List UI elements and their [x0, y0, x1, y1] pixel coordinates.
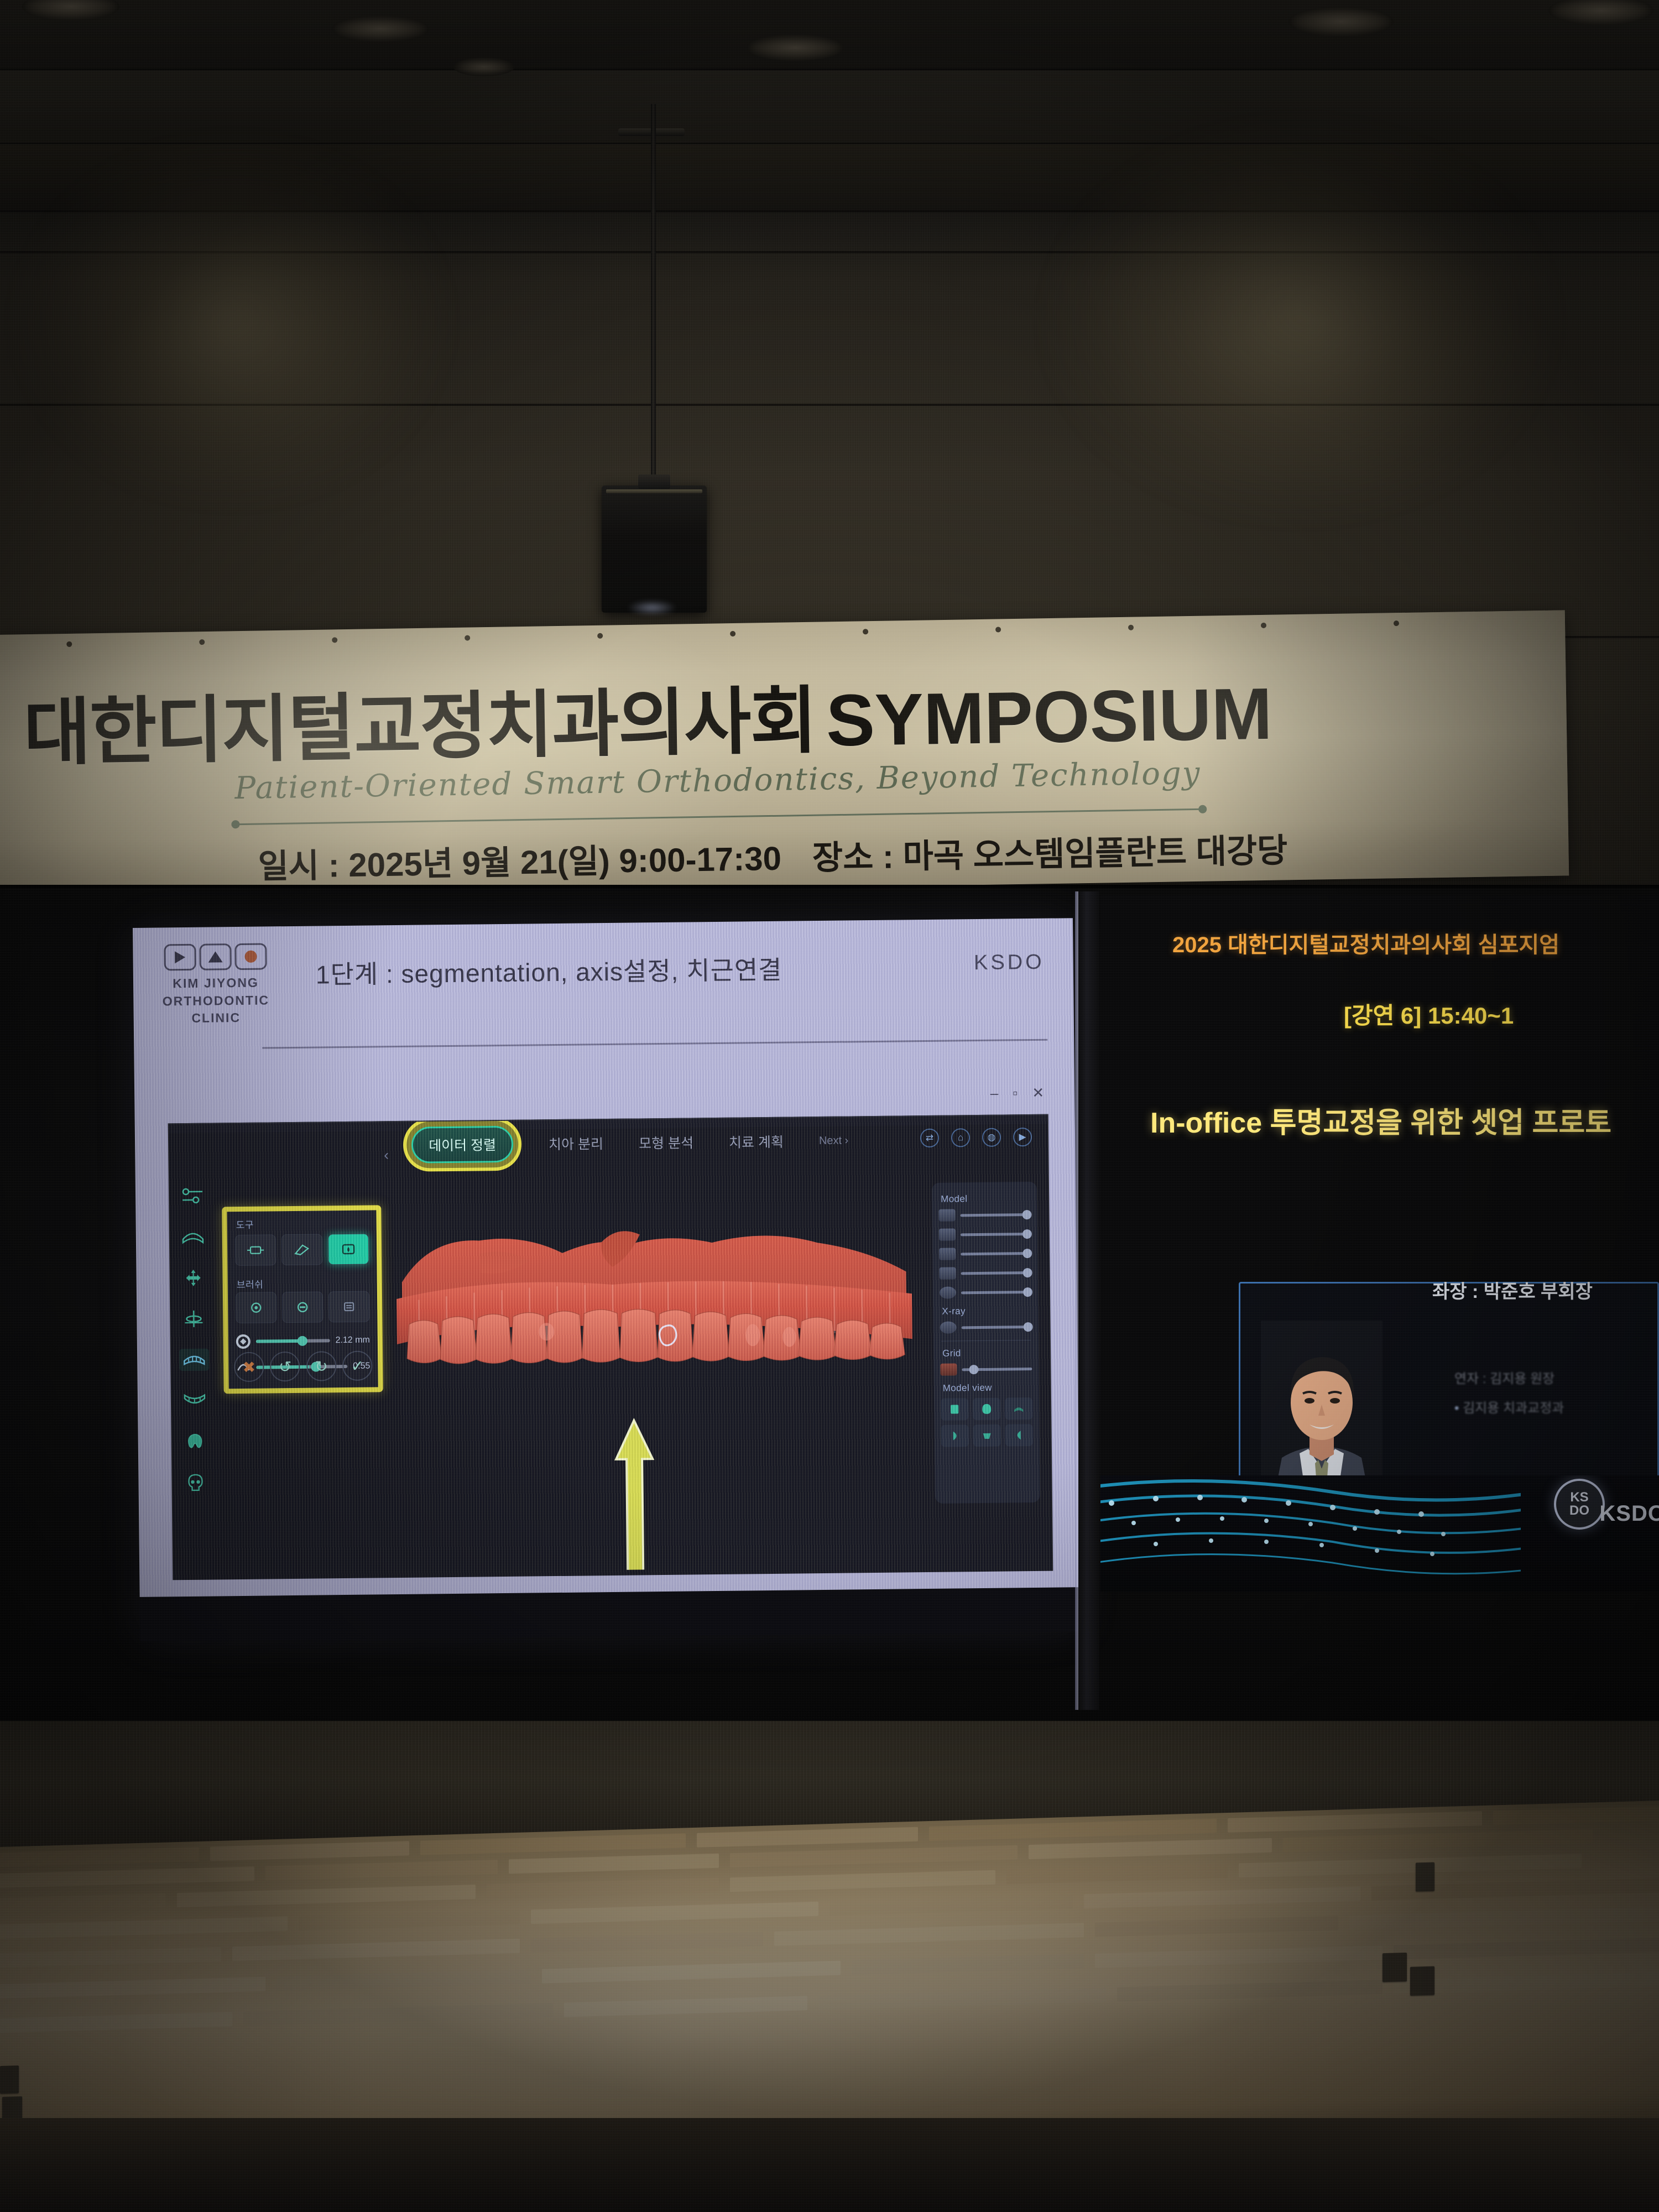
speaker-suspension-rod — [651, 104, 656, 486]
minimize-icon[interactable]: – — [990, 1085, 999, 1102]
model-slider-upper[interactable] — [938, 1208, 1030, 1222]
add-icon[interactable] — [236, 1292, 277, 1323]
view-buttons — [941, 1397, 1033, 1447]
axis-tool-icon[interactable] — [179, 1308, 208, 1331]
model-slider-lower[interactable] — [939, 1228, 1031, 1241]
display-divider — [1078, 891, 1099, 1710]
annotation-arrow-icon — [613, 1418, 656, 1572]
compare-icon[interactable]: ⇄ — [920, 1129, 939, 1147]
ceiling-light — [1288, 7, 1394, 36]
teeth-icon — [940, 1267, 956, 1279]
lower-icon — [939, 1228, 956, 1240]
banner-divider — [235, 808, 1203, 825]
brush-icon[interactable] — [281, 1234, 323, 1265]
brush-size-icon — [236, 1334, 251, 1349]
left-toolbar — [174, 1185, 214, 1494]
brush-size-value: 2.12 mm — [335, 1335, 369, 1346]
close-icon[interactable]: ✕ — [1032, 1084, 1044, 1102]
model-slider-gingiva[interactable] — [939, 1247, 1031, 1260]
dental-software-window: Ortho ‹ 데이터 정렬 치아 분리 모형 분석 치료 계획 Next › … — [168, 1114, 1053, 1580]
align-tool-icon[interactable] — [178, 1185, 207, 1208]
monitor-footer: KS DO KSDO — [1100, 1475, 1659, 1592]
back-view-icon[interactable] — [973, 1398, 1000, 1421]
tooth-shape-icon[interactable] — [180, 1431, 210, 1453]
upper-icon — [938, 1209, 955, 1221]
model-slider-occlusion[interactable] — [940, 1286, 1031, 1299]
home-icon[interactable]: ⌂ — [951, 1128, 970, 1147]
tab-tooth-separation[interactable]: 치아 분리 — [549, 1133, 603, 1154]
panel-section-label: 도구 — [236, 1217, 254, 1231]
upper-track[interactable] — [960, 1213, 1030, 1217]
front-view-icon[interactable] — [941, 1398, 968, 1421]
logo-triangle-up-icon — [199, 943, 231, 971]
clinic-logo: KIM JIYONG ORTHODONTIC CLINIC — [146, 943, 285, 1028]
ksdo-badge-line2: DO — [1569, 1504, 1589, 1517]
ceiling-speaker — [602, 486, 707, 613]
panel-xray-label: X-ray — [942, 1305, 1031, 1317]
app-tabs: 데이터 정렬 치아 분리 모형 분석 치료 계획 Next › — [411, 1120, 849, 1165]
lower-arch-icon[interactable] — [180, 1390, 210, 1412]
model-viewport[interactable] — [379, 1177, 926, 1572]
drop-icon[interactable]: ◍ — [982, 1128, 1001, 1147]
subtract-icon[interactable] — [282, 1291, 324, 1323]
xray-opacity-icon — [940, 1321, 957, 1333]
right-view-icon[interactable] — [1005, 1397, 1032, 1420]
ksdo-badge-line1: KS — [1570, 1491, 1588, 1504]
slide-title: 1단계 : segmentation, axis설정, 치근연결 — [316, 948, 969, 991]
undo-icon[interactable]: ↺ — [270, 1352, 300, 1382]
brush-size-track[interactable] — [256, 1339, 330, 1343]
slide-org-mark: KSDO — [974, 951, 1045, 975]
session-tag: [강연 6] 15:40~1 — [1344, 997, 1514, 1031]
top-view-icon[interactable] — [973, 1425, 1000, 1447]
bullet-icon: • — [1454, 1401, 1459, 1416]
banner-info: 일시 : 2025년 9월 21(일) 9:00-17:30장소 : 마곡 오스… — [258, 821, 1475, 888]
panel-model-label: Model — [941, 1193, 1030, 1205]
panel-mode-row — [235, 1234, 369, 1266]
ceiling-light — [453, 58, 514, 76]
event-title: 2025 대한디지털교정치과의사회 심포지엄 — [1172, 927, 1559, 959]
occlusion-icon — [940, 1286, 956, 1298]
projection-screen: KIM JIYONG ORTHODONTIC CLINIC 1단계 : segm… — [133, 918, 1080, 1641]
segmentation-icon[interactable] — [179, 1349, 209, 1371]
teeth-track[interactable] — [961, 1271, 1031, 1275]
paint-bucket-icon[interactable] — [328, 1234, 369, 1265]
banner-title-ko: 대한디지털교정치과의사회 — [23, 680, 817, 774]
chair-label: 좌장 : 박준호 부회장 — [1432, 1276, 1593, 1303]
cancel-icon[interactable]: ✖ — [234, 1352, 264, 1383]
lower-track[interactable] — [961, 1233, 1031, 1236]
upper-arch-icon[interactable] — [178, 1226, 208, 1249]
bottom-view-icon[interactable] — [1005, 1424, 1032, 1447]
speaker-meta-line2: • 김지용 치과교정과 — [1454, 1394, 1564, 1423]
lecture-title: In-office 투명교정을 위한 셋업 프로토 — [1150, 1099, 1611, 1141]
bracket-icon[interactable] — [235, 1234, 276, 1266]
brush-size-slider[interactable]: 2.12 mm — [236, 1333, 370, 1349]
fiber-optic-graphic — [1100, 1475, 1521, 1592]
app-brand: Ortho — [173, 1114, 209, 1121]
speaker-meta-line1: 연자 : 김지용 원장 — [1454, 1365, 1564, 1394]
xray-slider[interactable] — [940, 1321, 1032, 1334]
banner-date: 일시 : 2025년 9월 21(일) 9:00-17:30 — [258, 840, 781, 885]
banner-venue: 장소 : 마곡 오스템임플란트 대강당 — [812, 832, 1287, 876]
panel-sub-label: 브러쉬 — [237, 1277, 264, 1291]
segmentation-tool-panel: 도구 브러쉬 — [222, 1205, 383, 1394]
window-controls[interactable]: – ▫ ✕ — [990, 1084, 1045, 1102]
grid-opacity-icon — [940, 1363, 957, 1375]
symposium-banner: 대한디지털교정치과의사회SYMPOSIUM Patient-Oriented S… — [0, 610, 1569, 900]
model-slider-teeth[interactable] — [940, 1266, 1031, 1280]
skull-icon[interactable] — [180, 1472, 210, 1494]
panel-actions: ✖ ↺ ↻ ✓ — [234, 1351, 373, 1383]
panel-sub-row — [236, 1291, 370, 1324]
tab-treatment-plan[interactable]: 치료 계획 — [729, 1131, 784, 1152]
logo-triangle-left-icon — [164, 944, 196, 971]
banner-title-en: SYMPOSIUM — [826, 673, 1273, 761]
maximize-icon[interactable]: ▫ — [1013, 1084, 1018, 1102]
gingiva-icon — [939, 1248, 956, 1260]
ksdo-logo-badge: KS DO — [1554, 1479, 1605, 1530]
fill-icon[interactable] — [328, 1291, 370, 1323]
presentation-slide: KIM JIYONG ORTHODONTIC CLINIC 1단계 : segm… — [133, 918, 1080, 1597]
confirm-icon[interactable]: ✓ — [342, 1351, 373, 1381]
panel-grid-label: Grid — [942, 1347, 1032, 1359]
ksdo-wordmark: KSDO — [1599, 1501, 1659, 1526]
speaker-meta: 연자 : 김지용 원장 • 김지용 치과교정과 — [1454, 1365, 1564, 1423]
xray-track[interactable] — [962, 1326, 1032, 1329]
tab-data-align[interactable]: 데이터 정렬 — [411, 1126, 514, 1164]
clinic-name-line1: KIM JIYONG — [147, 974, 285, 993]
gingiva-track[interactable] — [961, 1252, 1031, 1255]
conference-hall-scene: 대한디지털교정치과의사회SYMPOSIUM Patient-Oriented S… — [0, 0, 1659, 2212]
ceiling-light — [747, 34, 844, 61]
properties-panel: Model — [932, 1182, 1040, 1504]
logo-dot-icon — [234, 943, 267, 970]
tab-next[interactable]: Next › — [819, 1134, 849, 1147]
clinic-name-line2: ORTHODONTIC — [147, 992, 285, 1010]
tab-model-analysis[interactable]: 모형 분석 — [639, 1132, 693, 1152]
play-icon[interactable]: ▶ — [1013, 1128, 1032, 1146]
slide-divider — [262, 1039, 1047, 1049]
redo-icon[interactable]: ↻ — [306, 1351, 337, 1381]
clinic-name-line3: CLINIC — [147, 1009, 285, 1028]
left-view-icon[interactable] — [941, 1425, 968, 1447]
tab-prev-arrow[interactable]: ‹ — [384, 1146, 389, 1164]
app-brand-label: Ortho — [185, 1114, 209, 1121]
floor-front-edge — [0, 2118, 1659, 2212]
clinic-logo-marks — [146, 943, 284, 971]
occlusion-track[interactable] — [961, 1291, 1031, 1294]
ceiling-light — [332, 15, 429, 42]
secondary-display: 2025 대한디지털교정치과의사회 심포지엄 [강연 6] 15:40~1 In… — [1100, 895, 1659, 1592]
panel-modelview-label: Model view — [943, 1382, 1032, 1394]
grid-slider[interactable] — [940, 1363, 1032, 1376]
grid-track[interactable] — [962, 1368, 1032, 1371]
app-top-icons: ⇄ ⌂ ◍ ▶ — [920, 1128, 1032, 1147]
ceiling — [0, 0, 1659, 221]
move-tool-icon[interactable] — [178, 1267, 208, 1290]
app-logo-icon — [173, 1114, 182, 1121]
